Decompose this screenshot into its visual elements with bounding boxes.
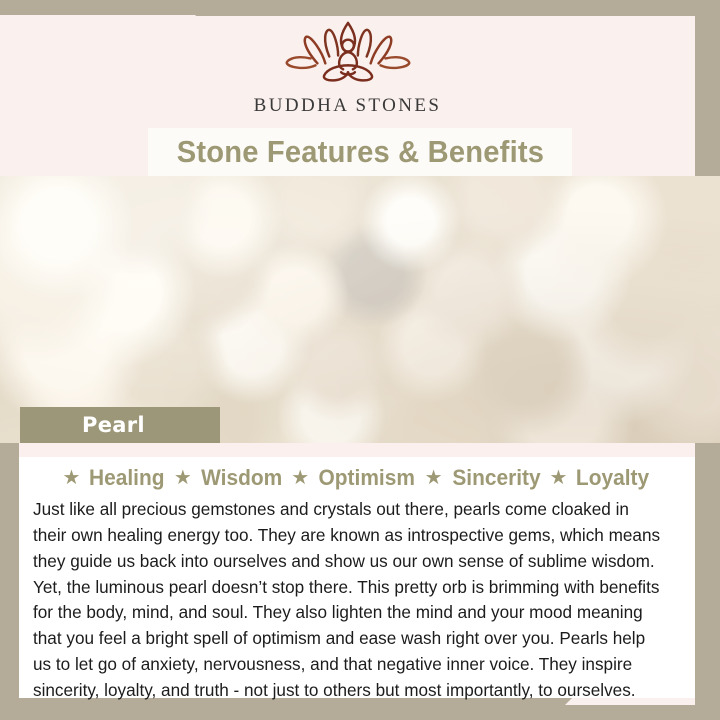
photo-sheen-overlay — [0, 176, 720, 443]
stone-name-plate: Pearl — [20, 407, 220, 443]
keyword-wisdom: Wisdom — [201, 465, 282, 491]
card-top-strip — [19, 443, 695, 457]
brand-name: BUDDHA STONES — [0, 95, 695, 117]
keyword-row: ★ Healing ★ Wisdom ★ Optimism ★ Sincerit… — [19, 457, 695, 493]
star-icon: ★ — [63, 468, 81, 488]
keyword-optimism: Optimism — [319, 465, 415, 491]
keyword-loyalty: Loyalty — [576, 465, 649, 491]
page-title: Stone Features & Benefits — [176, 134, 543, 170]
description-paragraph: Just like all precious gemstones and cry… — [33, 497, 665, 704]
top-accent-bar — [195, 0, 720, 16]
keyword-healing: Healing — [89, 465, 164, 491]
infographic-page: BUDDHA STONES Stone Features & Benefits … — [0, 0, 720, 720]
star-icon: ★ — [425, 468, 443, 488]
star-icon: ★ — [550, 468, 568, 488]
lotus-meditation-figure-icon — [273, 16, 423, 90]
left-accent-strip — [0, 440, 19, 702]
star-icon: ★ — [174, 468, 192, 488]
star-icon: ★ — [291, 468, 309, 488]
pearl-photo — [0, 176, 720, 443]
brand-logo: BUDDHA STONES — [0, 16, 695, 117]
keyword-sincerity: Sincerity — [452, 465, 540, 491]
content-card: ★ Healing ★ Wisdom ★ Optimism ★ Sincerit… — [19, 443, 695, 698]
stone-name: Pearl — [82, 413, 145, 437]
title-banner: Stone Features & Benefits — [148, 128, 572, 176]
